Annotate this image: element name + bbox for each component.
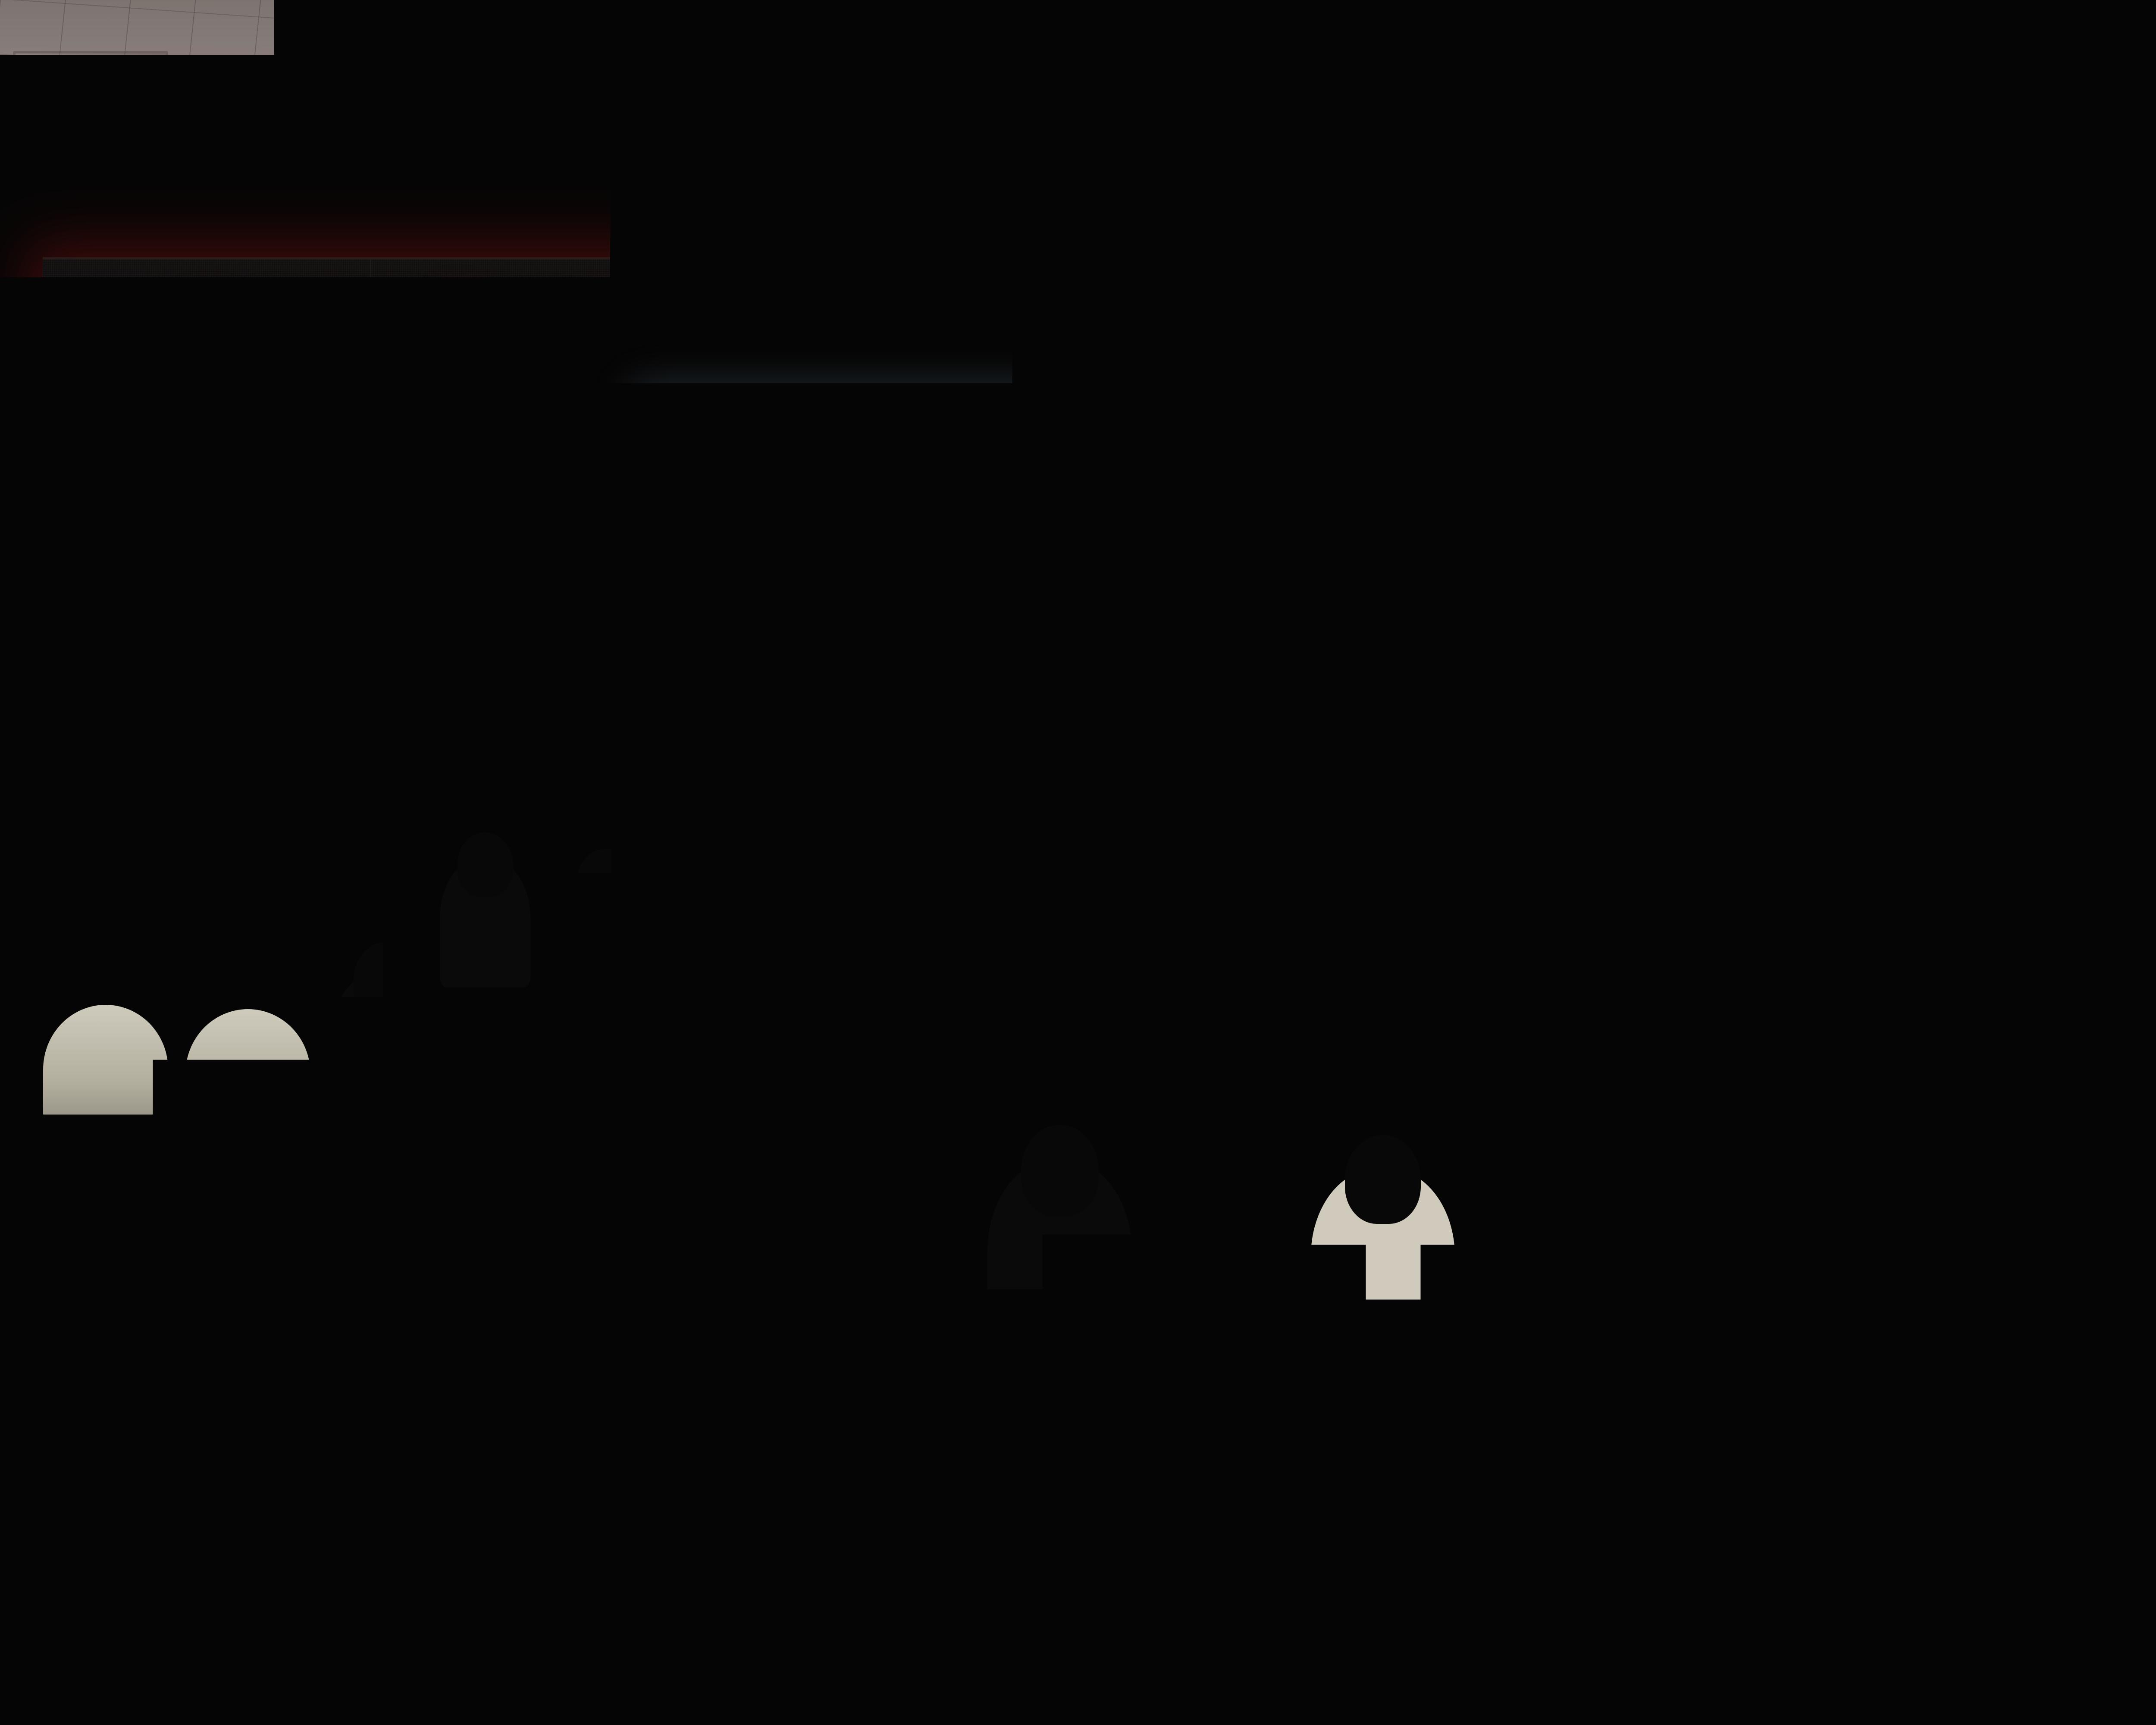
chair [177,1182,323,1345]
minimize-icon[interactable] [1708,430,1723,433]
chair [43,1005,168,1134]
screen-edge-marker [639,393,645,441]
red-name-card [633,1546,712,1625]
chair [1259,1527,1535,1725]
ceiling-light-panel [1867,129,2009,165]
conference-room-photo: 2023年“三区”科技人员专项计划滇西南片区专题培训班 优质农产品如何生产？ 环… [0,0,2156,1725]
slide-column-seed: 种子 育种 功能强化 [1081,521,1325,775]
chair [824,1199,970,1358]
smiley-icon[interactable] [656,809,671,824]
overlay-status-row: 正在讲话: [1698,444,1940,472]
marker-circle-icon [1568,571,1592,599]
tea-cup [155,1121,178,1146]
ceiling-fitting [345,47,362,94]
slide-columns: 环境 水 土壤 大气 种子 育种 功能强化 种植方式 [772,521,1877,775]
ceiling-vent [13,51,168,135]
ceiling-light-panel [707,126,858,163]
marker-half-circle-icon [1324,584,1348,599]
slide-footer-text: 四 大 要 素 [0,793,2156,839]
comment-input-bar[interactable]: 说点什么... ‹ [650,805,799,828]
maximize-icon[interactable] [1732,427,1745,437]
column-item-emphasis: 功能强化 [1090,648,1172,715]
column-item: 水 [846,618,928,648]
chair [1846,1552,2113,1725]
tea-cup [1156,1311,1183,1342]
column-item: 农药 [1578,618,1660,648]
tea-cup [78,1311,104,1341]
overlay-titlebar [1698,420,1940,444]
ceiling-light-panel [73,122,229,158]
column-item: 饲料使用 [1578,678,1660,737]
chair [1966,1199,2113,1358]
tea-cup [1751,1121,1773,1146]
column-title: 种植方式 [1356,571,1435,599]
ceiling-vent [1945,65,2117,164]
column-title: 农业投入品 [1600,571,1699,599]
menu-icon[interactable] [1755,427,1768,437]
speaking-status-label: 正在讲话: [1727,449,1780,467]
slide-column-agricultural-inputs: 农业投入品 农药 化肥 饲料使用 [1568,521,1812,775]
ceiling-light-panel [1294,129,1440,166]
column-item: 适宜产区 [1334,618,1433,643]
screen-edge-marker [1980,393,1986,445]
comment-placeholder[interactable]: 说点什么... [682,808,777,825]
chair [1470,1199,1617,1358]
marker-half-circle-icon [837,584,861,599]
column-item: 土壤 [846,648,928,678]
water-bottle [1302,1101,1317,1151]
slide-column-planting-method: 种植方式 适宜产区 适宜采收期 [1324,521,1568,775]
marker-half-circle-icon [1081,584,1105,599]
column-title: 环境 [868,571,908,599]
led-banner: 2023年“三区”科技人员专项计划滇西南片区专题培训班 [40,257,2156,411]
video-conference-overlay[interactable]: 正在讲话: [1698,419,1940,473]
column-item: 育种 [1090,618,1172,648]
chair [185,1009,310,1138]
layout-icon[interactable] [1916,427,1930,437]
led-banner-text: 2023年“三区”科技人员专项计划滇西南片区专题培训班 [40,272,2156,394]
chair [500,1190,647,1354]
column-title: 种子 [1112,571,1152,599]
ceiling-fitting [1345,41,1364,100]
slide-column-environment: 环境 水 土壤 大气 [837,521,1081,775]
microphone-icon[interactable] [1707,453,1713,463]
column-item: 大气 [846,678,928,708]
column-item: 适宜采收期 [1334,643,1433,668]
ceiling-fitting [1686,44,1705,104]
chevron-left-icon[interactable]: ‹ [789,809,793,824]
column-item: 化肥 [1578,648,1660,678]
